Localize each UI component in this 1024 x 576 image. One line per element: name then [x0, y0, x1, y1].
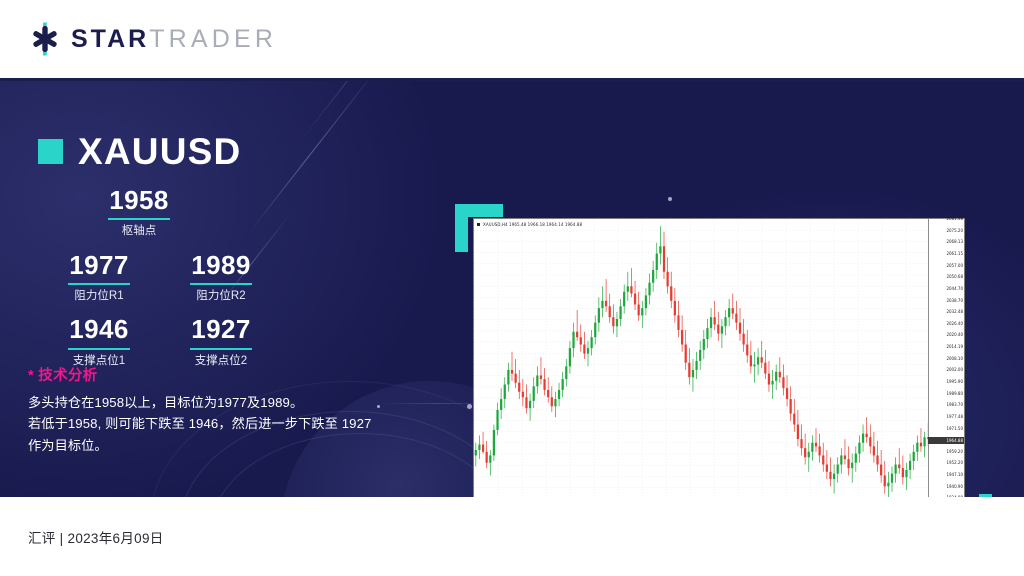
price-tick-label: 2075.20 — [946, 229, 963, 233]
price-tick-label: 2081.48 — [946, 217, 963, 221]
pivot-cell-r1: 1977 阻力位R1 — [38, 251, 160, 303]
price-tick-label: 2050.68 — [946, 275, 963, 279]
pivot-value: 1958 — [78, 186, 200, 214]
pivot-separator — [190, 283, 252, 285]
pivot-label: 阻力位R2 — [160, 290, 282, 303]
analysis-line-3: 作为目标位。 — [28, 435, 428, 456]
current-price-marker: 1964.88 — [928, 437, 964, 444]
brand-primary-text: STAR — [71, 25, 149, 53]
price-tick-label: 2057.00 — [946, 264, 963, 268]
star-asterisk-icon — [28, 22, 62, 56]
pivot-label: 阻力位R1 — [38, 290, 160, 303]
brand-logo: STARTRADER — [28, 22, 277, 56]
chart-ohlc-header: XAUUSD,H4 1965.48 1966.18 1964.14 1964.8… — [477, 220, 582, 228]
pivot-value: 1927 — [160, 315, 282, 343]
price-tick-label: 1983.70 — [946, 403, 963, 407]
price-tick-label: 2026.40 — [946, 322, 963, 326]
chart-plot-area[interactable] — [474, 219, 930, 497]
analysis-line-1: 多头持仓在1958以上，目标位为1977及1989。 — [28, 392, 428, 413]
price-tick-label: 1995.90 — [946, 380, 963, 384]
pivot-levels: 1958 枢轴点 1977 阻力位R1 1989 阻力位R2 1946 支撑点位… — [38, 186, 338, 380]
chart-symbol-swatch — [477, 223, 480, 226]
pivot-cell-s1: 1946 支撑点位1 — [38, 315, 160, 367]
technical-analysis-block: * 技术分析 多头持仓在1958以上，目标位为1977及1989。 若低于195… — [28, 364, 428, 456]
price-tick-label: 2068.13 — [946, 240, 963, 244]
corner-bracket-top-left — [455, 204, 468, 252]
pivot-separator — [68, 283, 130, 285]
pivot-row-resistance: 1977 阻力位R1 1989 阻力位R2 — [38, 251, 338, 316]
price-tick-label: 1989.80 — [946, 392, 963, 396]
analysis-body: 多头持仓在1958以上，目标位为1977及1989。 若低于1958, 则可能下… — [28, 392, 428, 456]
instrument-title-row: XAUUSD — [38, 133, 241, 170]
pivot-value: 1977 — [38, 251, 160, 279]
price-tick-label: 1959.20 — [946, 450, 963, 454]
footer-caption: 汇评 | 2023年6月09日 — [28, 527, 164, 547]
page-title: XAUUSD — [78, 133, 241, 170]
pivot-value: 1946 — [38, 315, 160, 343]
brand-wordmark: STARTRADER — [71, 27, 277, 52]
background-dot — [467, 404, 472, 409]
background-dot — [668, 197, 672, 201]
price-tick-label: 1971.50 — [946, 427, 963, 431]
price-tick-label: 2061.15 — [946, 252, 963, 256]
pivot-label: 枢轴点 — [78, 225, 200, 238]
pivot-separator — [190, 348, 252, 350]
price-tick-label: 2002.00 — [946, 368, 963, 372]
price-chart[interactable]: XAUUSD,H4 1965.48 1966.18 1964.14 1964.8… — [473, 218, 965, 497]
pivot-cell-pivot: 1958 枢轴点 — [78, 186, 200, 238]
candlestick-svg — [474, 219, 930, 497]
price-tick-label: 1952.20 — [946, 461, 963, 465]
page-footer: 汇评 | 2023年6月09日 — [0, 497, 1024, 576]
price-tick-label: 2044.70 — [946, 287, 963, 291]
price-tick-label: 1940.90 — [946, 485, 963, 489]
pivot-value: 1989 — [160, 251, 282, 279]
pivot-cell-r2: 1989 阻力位R2 — [160, 251, 282, 303]
page-header: STARTRADER — [0, 0, 1024, 78]
price-tick-label: 2008.10 — [946, 357, 963, 361]
pivot-row-pivot: 1958 枢轴点 — [38, 186, 338, 251]
price-tick-label: 2020.40 — [946, 333, 963, 337]
pivot-separator — [108, 218, 170, 220]
price-tick-label: 2014.19 — [946, 345, 963, 349]
analysis-heading: * 技术分析 — [28, 364, 428, 385]
price-tick-label: 2032.48 — [946, 310, 963, 314]
analysis-line-2: 若低于1958, 则可能下跌至 1946，然后进一步下跌至 1927 — [28, 413, 428, 434]
pivot-cell-s2: 1927 支撑点位2 — [160, 315, 282, 367]
price-tick-label: 1977.48 — [946, 415, 963, 419]
pivot-separator — [68, 348, 130, 350]
brand-secondary-text: TRADER — [149, 25, 277, 53]
price-tick-label: 2038.70 — [946, 299, 963, 303]
title-accent-square — [38, 139, 63, 164]
price-axis: 2081.482075.202068.132061.152057.002050.… — [928, 219, 964, 497]
price-tick-label: 1947.10 — [946, 473, 963, 477]
chart-ohlc-text: XAUUSD,H4 1965.48 1966.18 1964.14 1964.8… — [483, 222, 582, 227]
main-panel: XAUUSD 1958 枢轴点 1977 阻力位R1 1989 阻力位R2 — [0, 81, 1024, 497]
